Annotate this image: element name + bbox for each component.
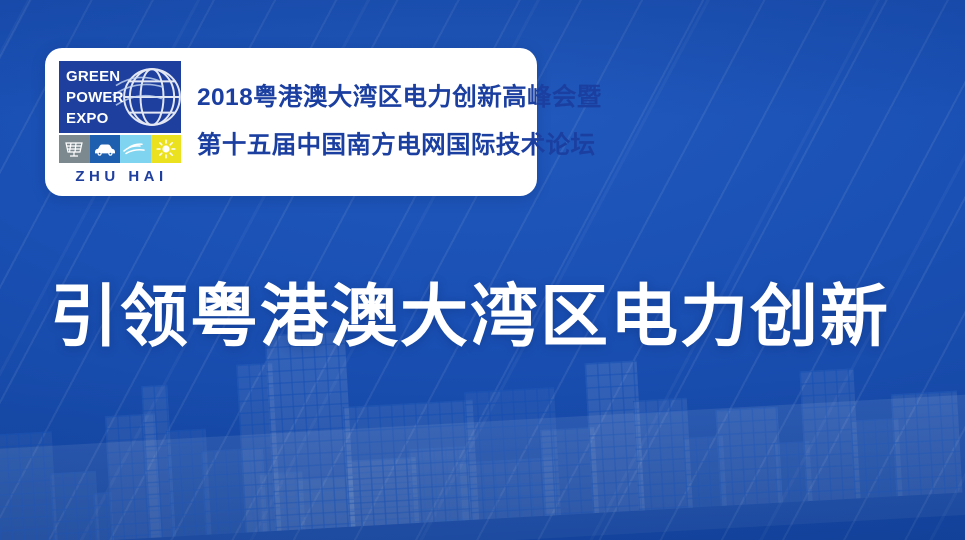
- logo-word-green: GREEN: [66, 66, 124, 87]
- event-title-block: 2018粤港澳大湾区电力创新高峰会暨 第十五届中国南方电网国际技术论坛: [181, 85, 610, 158]
- expo-logo: GREEN POWER EXPO: [59, 61, 181, 185]
- event-title-line-1: 2018粤港澳大湾区电力创新高峰会暨: [197, 85, 602, 111]
- event-title-line-2: 第十五届中国南方电网国际技术论坛: [197, 133, 602, 159]
- solar-panel-icon: [59, 135, 90, 163]
- electric-car-icon: [90, 135, 121, 163]
- poster-root: GREEN POWER EXPO: [0, 0, 965, 540]
- logo-city-label: ZHU HAI: [59, 168, 181, 185]
- sun-icon: [151, 135, 182, 163]
- page-headline: 引领粤港澳大湾区电力创新: [50, 283, 925, 351]
- event-banner: GREEN POWER EXPO: [45, 48, 537, 196]
- logo-wordmark: GREEN POWER EXPO: [59, 66, 124, 129]
- logo-blue-box: GREEN POWER EXPO: [59, 61, 181, 133]
- logo-icon-strip: [59, 135, 181, 163]
- logo-word-expo: EXPO: [66, 108, 124, 129]
- wind-energy-icon: [120, 135, 151, 163]
- logo-word-power: POWER: [66, 87, 124, 108]
